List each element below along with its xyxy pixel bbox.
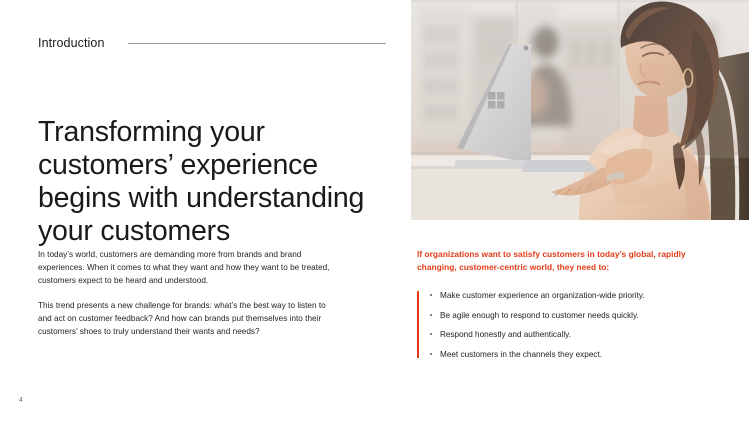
bullet-dot-icon [430, 314, 432, 316]
body-paragraph: In today’s world, customers are demandin… [38, 248, 338, 288]
requirements-list: Make customer experience an organization… [427, 289, 717, 361]
accent-rule [417, 291, 419, 358]
list-item: Be agile enough to respond to customer n… [427, 309, 717, 322]
bullet-block: Make customer experience an organization… [417, 289, 717, 361]
hero-image [411, 0, 749, 220]
bullet-dot-icon [430, 294, 432, 296]
left-body-column: In today’s world, customers are demandin… [38, 248, 338, 338]
list-item-label: Make customer experience an organization… [440, 291, 645, 300]
eyebrow-divider [128, 43, 386, 44]
section-eyebrow: Introduction [38, 33, 386, 53]
photo-icon [411, 0, 749, 220]
right-callout-column: If organizations want to satisfy custome… [417, 248, 717, 361]
callout-heading: If organizations want to satisfy custome… [417, 248, 717, 273]
bullet-dot-icon [430, 333, 432, 335]
list-item-label: Meet customers in the channels they expe… [440, 350, 602, 359]
bullet-dot-icon [430, 353, 432, 355]
list-item-label: Be agile enough to respond to customer n… [440, 311, 639, 320]
list-item: Make customer experience an organization… [427, 289, 717, 302]
page-title: Transforming your customers’ experience … [38, 116, 368, 248]
list-item-label: Respond honestly and authentically. [440, 330, 571, 339]
slide-canvas: Introduction Transforming your customers… [0, 0, 749, 422]
section-label: Introduction [38, 36, 105, 50]
body-paragraph: This trend presents a new challenge for … [38, 299, 338, 339]
list-item: Respond honestly and authentically. [427, 328, 717, 341]
list-item: Meet customers in the channels they expe… [427, 348, 717, 361]
page-number: 4 [19, 397, 23, 404]
